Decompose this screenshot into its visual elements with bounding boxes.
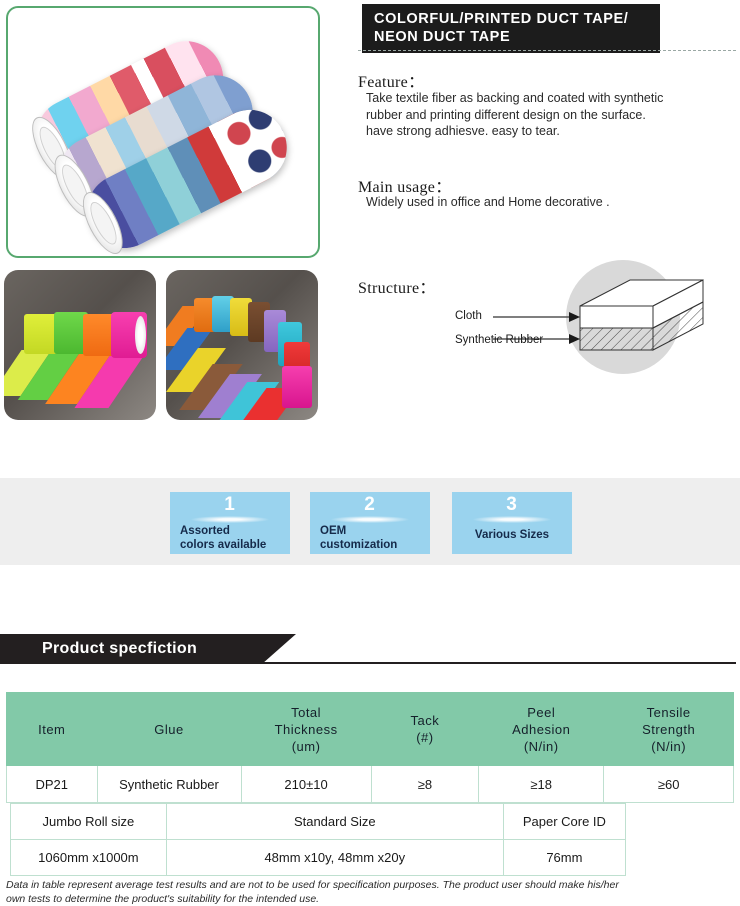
feature-heading: Feature： xyxy=(358,68,424,92)
cell-jumbo-roll-size: 1060mm x1000m xyxy=(11,840,167,876)
product-title-banner: COLORFUL/PRINTED DUCT TAPE/ NEON DUCT TA… xyxy=(362,4,660,53)
header-line-2: Strength xyxy=(605,721,732,738)
tape-roll xyxy=(282,366,312,408)
feature-line-3: have strong adhiesve. easy to tear. xyxy=(366,124,560,138)
cell-tack: ≥8 xyxy=(371,766,479,803)
table-disclaimer: Data in table represent average test res… xyxy=(6,878,626,906)
badge-label-line1: OEM xyxy=(320,525,346,537)
size-header-standard-size: Standard Size xyxy=(166,804,503,840)
cell-peel-adhesion: ≥18 xyxy=(479,766,604,803)
structure-diagram: Cloth Synthetic Rubber xyxy=(455,258,740,376)
feature-badge-3: 3 Various Sizes xyxy=(452,492,572,554)
tape-roll xyxy=(24,314,58,354)
feature-badge-1: 1 Assorted colors available xyxy=(170,492,290,554)
spec-banner-rule xyxy=(0,662,736,664)
header-line-2: Adhesion xyxy=(480,721,602,738)
cell-item: DP21 xyxy=(7,766,98,803)
feature-badge-2: 2 OEM customization xyxy=(310,492,430,554)
structure-label-cloth: Cloth xyxy=(455,310,482,322)
header-line-1: Tack xyxy=(373,712,478,729)
product-specification-banner: Product specfiction xyxy=(0,634,296,664)
badge-separator xyxy=(473,516,551,523)
spec-header-glue: Glue xyxy=(97,693,241,766)
rainbow-tape-photo xyxy=(166,270,318,420)
neon-tape-photo xyxy=(4,270,156,420)
product-title-line1: COLORFUL/PRINTED DUCT TAPE/ xyxy=(374,11,628,27)
main-product-photo xyxy=(6,6,320,258)
tape-roll xyxy=(111,312,147,358)
badge-label-line2: customization xyxy=(320,539,397,551)
roll-core xyxy=(75,186,131,258)
rubber-front-face xyxy=(580,328,653,350)
badge-number: 3 xyxy=(462,494,562,515)
header-line-1: Tensile xyxy=(605,704,732,721)
structure-label-synthetic-rubber: Synthetic Rubber xyxy=(455,334,543,346)
header-line-3: (N/in) xyxy=(480,738,602,755)
header-line-2: Thickness xyxy=(243,721,370,738)
badge-label-line1: Various Sizes xyxy=(475,529,549,541)
feature-line-1: Take textile fiber as backing and coated… xyxy=(366,91,663,105)
badge-number: 2 xyxy=(320,494,420,515)
specification-table: Item Glue Total Thickness (um) Tack (#) … xyxy=(6,692,734,803)
header-line-3: (um) xyxy=(243,738,370,755)
usage-text: Widely used in office and Home decorativ… xyxy=(366,194,706,211)
header-line-1: Glue xyxy=(99,721,240,738)
header-line-1: Item xyxy=(8,721,96,738)
badge-label-line1: Assorted xyxy=(180,525,230,537)
badge-label: OEM customization xyxy=(320,525,420,552)
badge-label-line2: colors available xyxy=(180,539,266,551)
feature-text: Take textile fiber as backing and coated… xyxy=(366,90,736,140)
spec-header-tack: Tack (#) xyxy=(371,693,479,766)
badge-label: Assorted colors available xyxy=(180,525,280,552)
size-header-paper-core-id: Paper Core ID xyxy=(503,804,625,840)
cell-total-thickness: 210±10 xyxy=(241,766,371,803)
structure-heading: Structure： xyxy=(358,274,436,298)
printed-tape-rolls-illustration xyxy=(8,8,318,256)
badge-separator xyxy=(191,516,269,523)
cell-tensile-strength: ≥60 xyxy=(604,766,734,803)
spec-header-total-thickness: Total Thickness (um) xyxy=(241,693,371,766)
cell-paper-core-id: 76mm xyxy=(503,840,625,876)
header-line-1: Peel xyxy=(480,704,602,721)
table-row: 1060mm x1000m 48mm x10y, 48mm x20y 76mm xyxy=(11,840,626,876)
disclaimer-line-1: Data in table represent average test res… xyxy=(6,879,556,891)
usage-line-1: Widely used in office and Home decorativ… xyxy=(366,195,610,209)
spec-header-item: Item xyxy=(7,693,98,766)
table-row: DP21 Synthetic Rubber 210±10 ≥8 ≥18 ≥60 xyxy=(7,766,734,803)
size-header-jumbo-roll-size: Jumbo Roll size xyxy=(11,804,167,840)
badge-number: 1 xyxy=(180,494,280,515)
cell-standard-size: 48mm x10y, 48mm x20y xyxy=(166,840,503,876)
product-title-line2: NEON DUCT TAPE xyxy=(374,29,510,45)
size-table-header-row: Jumbo Roll size Standard Size Paper Core… xyxy=(11,804,626,840)
spec-header-peel-adhesion: Peel Adhesion (N/in) xyxy=(479,693,604,766)
header-line-2: (#) xyxy=(373,729,478,746)
cell-glue: Synthetic Rubber xyxy=(97,766,241,803)
size-table: Jumbo Roll size Standard Size Paper Core… xyxy=(10,803,626,876)
spec-header-tensile-strength: Tensile Strength (N/in) xyxy=(604,693,734,766)
badge-label: Various Sizes xyxy=(462,525,562,543)
structure-diagram-svg xyxy=(455,258,740,376)
header-line-3: (N/in) xyxy=(605,738,732,755)
feature-line-2: rubber and printing different design on … xyxy=(366,108,646,122)
badge-separator xyxy=(331,516,409,523)
header-line-1: Total xyxy=(243,704,370,721)
spec-table-header-row: Item Glue Total Thickness (um) Tack (#) … xyxy=(7,693,734,766)
cloth-front-face xyxy=(580,306,653,328)
title-divider xyxy=(358,50,736,51)
